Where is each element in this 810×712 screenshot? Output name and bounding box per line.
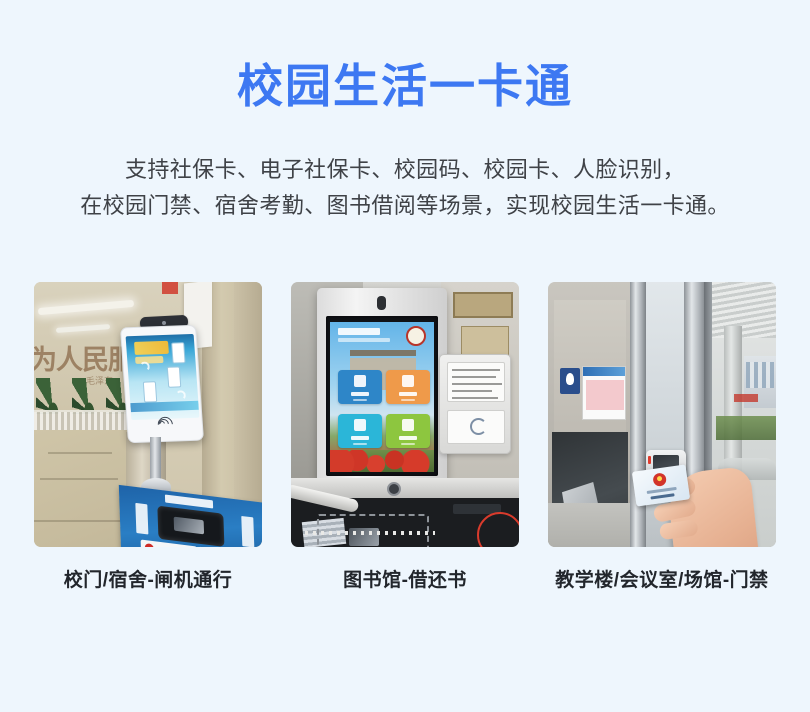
floor-seam (48, 452, 112, 454)
zone-dot-row (305, 531, 435, 535)
desk-camera-icon (387, 482, 401, 496)
face-recognition-terminal (120, 325, 204, 443)
scene-photo-gate-turnstile: 为人民服务 毛泽东 (34, 282, 262, 547)
kiosk-screen-title (338, 328, 380, 335)
terminal-mount-pole (150, 437, 161, 483)
phone-illustration-icon (167, 366, 181, 387)
terminal-screen-subhead (135, 356, 163, 364)
planter-rail (34, 410, 134, 432)
kiosk-tile-return[interactable] (386, 370, 430, 404)
scene-caption-gate-turnstile: 校门/宿舍-闸机通行 (64, 565, 233, 592)
hedge-greenery (716, 416, 776, 440)
poster-body (586, 380, 624, 410)
scene-caption-library-self-service: 图书馆-借还书 (343, 565, 467, 592)
scene-photo-door-access (548, 282, 776, 547)
red-banner-fragment (162, 282, 178, 294)
page-subtitle: 支持社保卡、电子社保卡、校园码、校园卡、人脸识别， 在校园门禁、宿舍考勤、图书借… (0, 152, 810, 224)
canopy-ceiling (712, 282, 776, 338)
highlight-circle (477, 512, 519, 547)
subtitle-line-2: 在校园门禁、宿舍考勤、图书借阅等场景，实现校园生活一卡通。 (0, 188, 810, 224)
swipe-card-label (241, 516, 254, 547)
flowerbed-photo (330, 450, 434, 472)
face-verify-label (135, 503, 148, 535)
terminal-screen (126, 334, 200, 420)
status-led-icon (648, 456, 651, 464)
nfc-wave-icon (139, 361, 150, 371)
qr-poster-block (447, 410, 505, 444)
school-emblem-icon (406, 326, 426, 346)
subtitle-line-1: 支持社保卡、电子社保卡、校园码、校园卡、人脸识别， (0, 152, 810, 188)
promo-page: 校园生活一卡通 支持社保卡、电子社保卡、校园码、校园卡、人脸识别， 在校园门禁、… (0, 0, 810, 712)
scene-caption-door-access: 教学楼/会议室/场馆-门禁 (555, 565, 768, 592)
restroom-sign-icon (560, 368, 580, 394)
scene-card-door-access: 教学楼/会议室/场馆-门禁 (548, 282, 776, 592)
scan-qr-label (165, 495, 213, 509)
floor-seam (40, 478, 118, 480)
terminal-screen-footer-bar (130, 401, 199, 412)
wall-calligraphy: 为人民服务 (34, 338, 122, 372)
scene-card-gate-turnstile: 为人民服务 毛泽东 (34, 282, 262, 592)
door-frame-left (630, 282, 646, 547)
plant-icon (72, 378, 106, 414)
kiosk-tile-borrow[interactable] (338, 370, 382, 404)
poster-header (583, 367, 625, 376)
scene-photo-library-self-service (291, 282, 519, 547)
qr-scanner-window (157, 506, 224, 547)
scene-card-list: 为人民服务 毛泽东 (34, 282, 776, 592)
wall-frame (453, 292, 513, 318)
phone-illustration-icon (171, 342, 185, 363)
national-emblem-icon (652, 472, 667, 487)
kiosk-tile-account[interactable] (386, 414, 430, 448)
kiosk-camera-icon (377, 296, 386, 310)
self-service-kiosk (317, 288, 447, 484)
terminal-screen-headline (134, 341, 169, 355)
card-text-line (650, 493, 674, 499)
page-title: 校园生活一卡通 (0, 58, 810, 114)
emblem-icon (145, 543, 154, 547)
floor-seam (34, 520, 126, 522)
wall-instruction-panel (439, 354, 511, 454)
phone-illustration-icon (143, 381, 157, 402)
nfc-wave-icon (175, 390, 186, 400)
kiosk-tile-search[interactable] (338, 414, 382, 448)
instruction-text-block (447, 362, 505, 402)
scene-card-library-self-service: 图书馆-借还书 (291, 282, 519, 592)
kiosk-screen[interactable] (326, 316, 438, 476)
wall-poster (582, 366, 626, 420)
kiosk-screen-content (330, 322, 434, 472)
wall-frame-secondary (461, 326, 509, 356)
nfc-reader-icon (157, 416, 180, 433)
kiosk-screen-subtitle (338, 338, 390, 342)
red-signage (734, 394, 758, 402)
plant-icon (36, 378, 70, 414)
social-security-card (632, 464, 690, 506)
